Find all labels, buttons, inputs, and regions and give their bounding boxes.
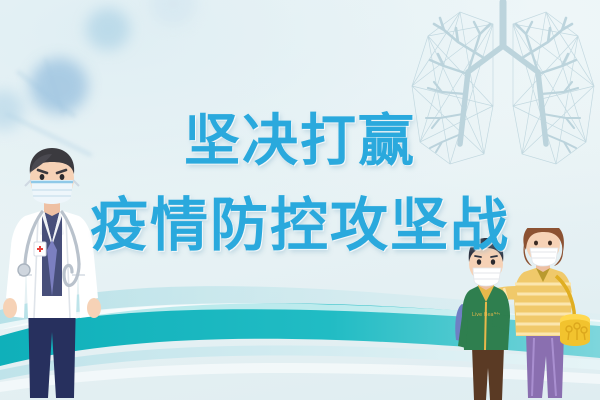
lungs-illustration	[398, 0, 600, 174]
doctor-hand-right	[87, 298, 101, 318]
doctor-coat	[8, 206, 96, 318]
doctor-head	[25, 148, 79, 204]
virus-blob	[150, 0, 196, 26]
virus-blob	[86, 8, 130, 50]
doctor-figure	[0, 146, 106, 400]
boy-mask	[473, 268, 501, 286]
bronchial-tree	[426, 2, 580, 152]
doctor-hand-left	[3, 298, 17, 318]
boy-figure: Live Health	[455, 238, 510, 400]
face-mask	[31, 180, 73, 204]
boy-trousers	[472, 346, 504, 400]
jacket-zipper	[485, 302, 486, 350]
poster-canvas: Live Health 坚决打赢 疫情防控攻坚战	[0, 0, 600, 400]
family-figures: Live Health	[452, 228, 600, 400]
stethoscope-chestpiece	[18, 264, 30, 276]
mother-mask	[530, 248, 558, 266]
virus-blob	[0, 90, 24, 130]
virus-blob	[30, 58, 88, 114]
